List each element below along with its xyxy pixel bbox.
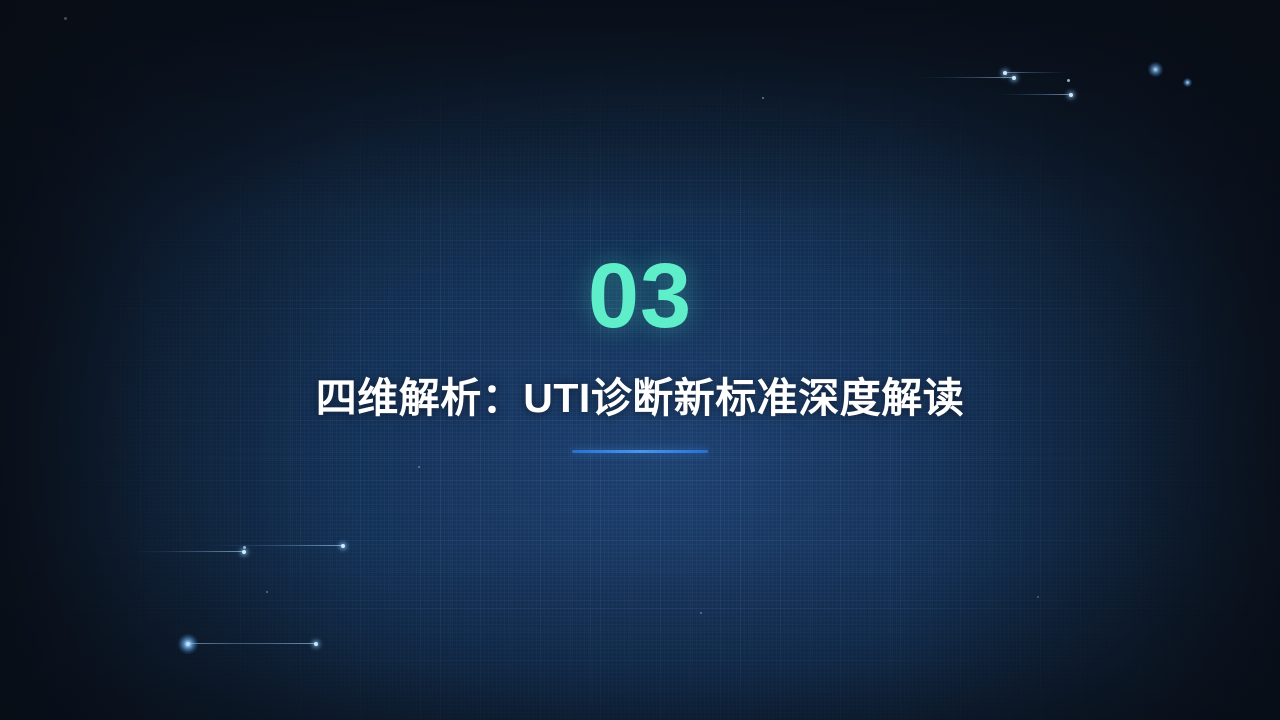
section-number: 03 bbox=[0, 250, 1280, 342]
particle-dot-icon bbox=[64, 17, 67, 20]
particle-dot-icon bbox=[243, 546, 246, 549]
particle-dot-icon bbox=[266, 591, 268, 593]
glow-particle-icon bbox=[1183, 78, 1192, 87]
particle-dot-icon bbox=[315, 643, 318, 646]
light-streak-icon bbox=[995, 94, 1071, 95]
light-streak-icon bbox=[188, 643, 318, 644]
light-streak-icon bbox=[1005, 72, 1067, 73]
particle-dot-icon bbox=[418, 466, 420, 468]
particle-dot-icon bbox=[1037, 596, 1039, 598]
light-streak-icon bbox=[205, 545, 343, 546]
glow-particle-icon bbox=[1148, 62, 1163, 77]
particle-layer bbox=[0, 0, 1280, 720]
particle-dot-icon bbox=[762, 97, 764, 99]
light-streak-icon bbox=[918, 77, 1014, 78]
glow-particle-icon bbox=[178, 634, 198, 654]
presentation-slide: 03 四维解析：UTI诊断新标准深度解读 bbox=[0, 0, 1280, 720]
particle-dot-icon bbox=[1067, 79, 1070, 82]
title-underline-accent bbox=[572, 450, 708, 453]
particle-dot-icon bbox=[700, 612, 702, 614]
section-title: 四维解析：UTI诊断新标准深度解读 bbox=[0, 376, 1280, 421]
light-streak-icon bbox=[132, 551, 244, 552]
